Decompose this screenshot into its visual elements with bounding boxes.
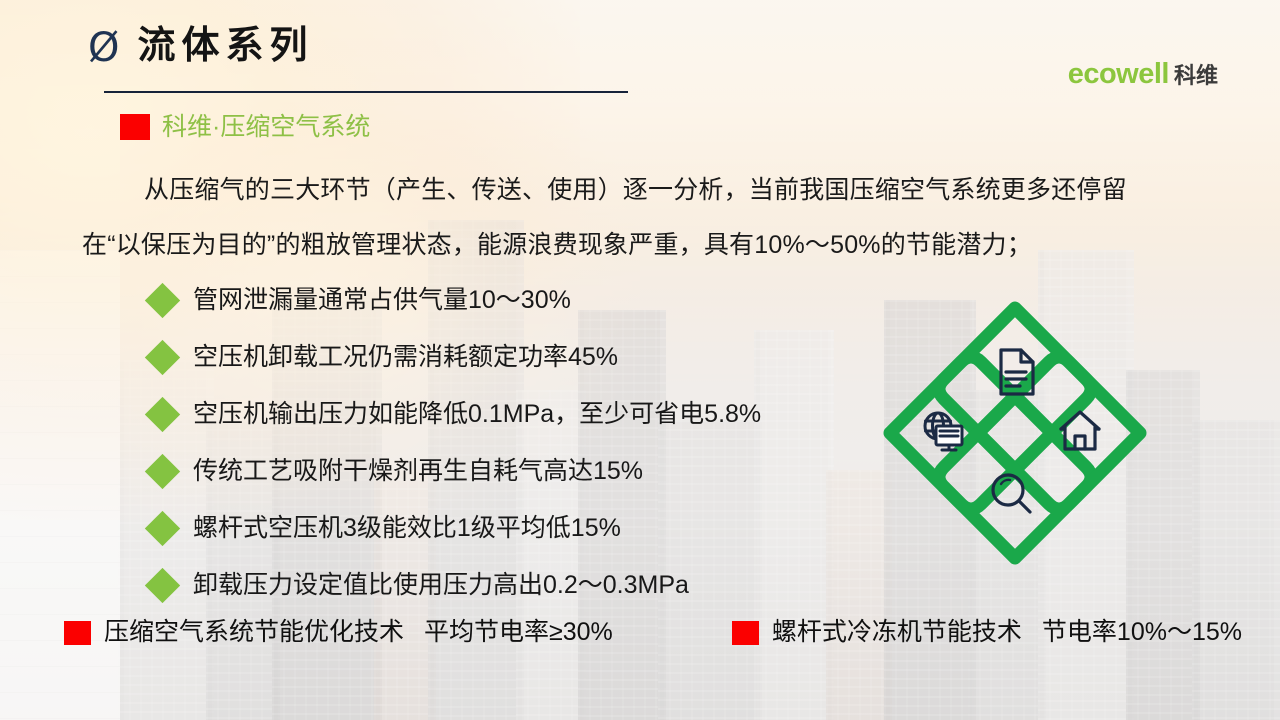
footer-item-left: 压缩空气系统节能优化技术平均节电率≥30% <box>64 620 613 645</box>
diameter-symbol-icon: Ø <box>88 28 119 68</box>
list-item-label: 卸载压力设定值比使用压力高出0.2～0.3MPa <box>193 573 689 598</box>
slide-title-row: Ø 流体系列 <box>88 26 314 66</box>
title-divider <box>104 91 628 93</box>
footer-label: 螺杆式冷冻机节能技术 <box>772 618 1022 646</box>
footer-item-right: 螺杆式冷冻机节能技术节电率10%～15% <box>732 620 1242 645</box>
paragraph-line-2: 在“以保压为目的”的粗放管理状态，能源浪费现象严重，具有10%～50%的节能潜力… <box>82 218 1202 273</box>
paragraph-line-1: 从压缩气的三大环节（产生、传送、使用）逐一分析，当前我国压缩空气系统更多还停留 <box>82 163 1202 218</box>
list-item: 卸载压力设定值比使用压力高出0.2～0.3MPa <box>150 557 761 614</box>
footer-value: 节电率10%～15% <box>1042 618 1242 646</box>
green-diamond-bullet-icon <box>145 340 180 375</box>
list-item: 管网泄漏量通常占供气量10～30% <box>150 272 761 329</box>
four-petal-diamond-cluster-graphic <box>880 298 1150 568</box>
footer-value: 平均节电率≥30% <box>424 618 613 646</box>
list-item-label: 螺杆式空压机3级能效比1级平均低15% <box>193 516 621 541</box>
paragraph-line-1-text: 从压缩气的三大环节（产生、传送、使用）逐一分析，当前我国压缩空气系统更多还停留 <box>144 176 1127 204</box>
list-item: 空压机输出压力如能降低0.1MPa，至少可省电5.8% <box>150 386 761 443</box>
footer-item-right-content: 螺杆式冷冻机节能技术节电率10%～15% <box>772 620 1242 645</box>
red-square-bullet-icon <box>64 621 91 645</box>
section-title: 科维·压缩空气系统 <box>162 115 370 140</box>
logo-text-main: ecowell <box>1068 60 1169 89</box>
logo-text-cn: 科维 <box>1174 65 1218 87</box>
slide: Ø 流体系列 ecowell 科维 科维·压缩空气系统 从压缩气的三大环节（产生… <box>0 0 1280 720</box>
green-diamond-bullet-icon <box>145 283 180 318</box>
green-diamond-bullet-icon <box>145 397 180 432</box>
page-title: 流体系列 <box>137 27 313 65</box>
list-item-label: 空压机卸载工况仍需消耗额定功率45% <box>193 345 618 370</box>
section-heading: 科维·压缩空气系统 <box>120 114 370 140</box>
red-square-bullet-icon <box>732 621 759 645</box>
footer-label: 压缩空气系统节能优化技术 <box>104 618 404 646</box>
footer-row: 压缩空气系统节能优化技术平均节电率≥30% 螺杆式冷冻机节能技术节电率10%～1… <box>64 620 1242 645</box>
brand-logo: ecowell 科维 <box>1068 60 1218 89</box>
green-diamond-bullet-icon <box>145 454 180 489</box>
list-item: 传统工艺吸附干燥剂再生自耗气高达15% <box>150 443 761 500</box>
list-item-label: 空压机输出压力如能降低0.1MPa，至少可省电5.8% <box>193 402 761 427</box>
slide-content: Ø 流体系列 ecowell 科维 科维·压缩空气系统 从压缩气的三大环节（产生… <box>0 0 1280 720</box>
list-item-label: 管网泄漏量通常占供气量10～30% <box>193 288 571 313</box>
list-item-label: 传统工艺吸附干燥剂再生自耗气高达15% <box>193 459 643 484</box>
intro-paragraph: 从压缩气的三大环节（产生、传送、使用）逐一分析，当前我国压缩空气系统更多还停留 … <box>82 163 1202 273</box>
list-item: 空压机卸载工况仍需消耗额定功率45% <box>150 329 761 386</box>
green-diamond-bullet-icon <box>145 568 180 603</box>
red-square-bullet-icon <box>120 114 150 140</box>
footer-item-left-content: 压缩空气系统节能优化技术平均节电率≥30% <box>104 620 613 645</box>
bullet-list: 管网泄漏量通常占供气量10～30% 空压机卸载工况仍需消耗额定功率45% 空压机… <box>150 272 761 614</box>
green-diamond-bullet-icon <box>145 511 180 546</box>
list-item: 螺杆式空压机3级能效比1级平均低15% <box>150 500 761 557</box>
